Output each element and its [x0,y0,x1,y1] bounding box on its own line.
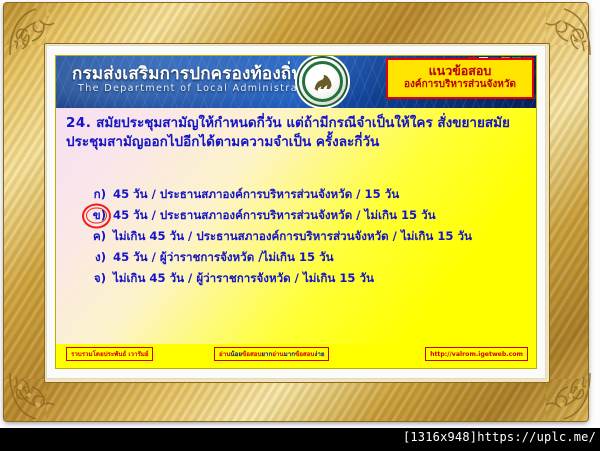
choice-text: 45 วัน / ประธานสภาองค์การบริหารส่วนจังหว… [113,209,436,223]
exam-banner-line2: องค์การบริหารส่วนจังหวัด [392,79,528,92]
department-emblem-icon [299,58,346,105]
slogan-part-3: ข้อสอบ [242,349,261,359]
slogan-part-4: ยาก [261,349,272,359]
slide-body: 24. สมัยประชุมสามัญให้กำหนดกี่วัน แต่ถ้า… [56,108,536,368]
choice-text: 45 วัน / ประธานสภาองค์การบริหารส่วนจังหว… [113,188,399,202]
answer-choice-kho-khwai[interactable]: ค) ไม่เกิน 45 วัน / ประธานสภาองค์การบริห… [72,226,528,247]
footer-url-link[interactable]: http://valrom.igetweb.com [430,351,523,358]
exam-slide: กรมส่งเสริมการปกครองท้องถิ่น The Departm… [56,56,536,368]
question-number: 24. [66,115,91,131]
slide-footer: รวบรวมโดยประพันธ์ เวารัมย์ อ่านน้อยข้อสอ… [56,344,536,368]
question-body: สมัยประชุมสามัญให้กำหนดกี่วัน แต่ถ้ามีกร… [66,115,510,150]
exam-banner-line1: แนวข้อสอบ [392,64,528,78]
slogan-part-8: ง่าย [314,349,324,359]
answer-choice-kho[interactable]: ข) 45 วัน / ประธานสภาองค์การบริหารส่วนจั… [72,205,528,226]
choice-text: 45 วัน / ผู้ว่าราชการจังหวัด /ไม่เกิน 15… [113,251,334,265]
footer-url-box[interactable]: http://valrom.igetweb.com [425,347,528,361]
department-title-english: The Department of Local Administration [78,83,322,94]
watermark-bar: [1316x948]https://uplc.me/ [0,428,600,451]
answer-choices-list: ก) 45 วัน / ประธานสภาองค์การบริหารส่วนจั… [72,184,528,289]
choice-text: ไม่เกิน 45 วัน / ประธานสภาองค์การบริหารส… [113,230,472,244]
answer-choice-ka[interactable]: ก) 45 วัน / ประธานสภาองค์การบริหารส่วนจั… [72,184,528,205]
question-text: 24. สมัยประชุมสามัญให้กำหนดกี่วัน แต่ถ้า… [66,114,528,152]
slide-stage: กรมส่งเสริมการปกครองท้องถิ่น The Departm… [0,0,600,451]
choice-label: จ) [86,272,106,286]
answer-choice-ngo[interactable]: ง) 45 วัน / ผู้ว่าราชการจังหวัด /ไม่เกิน… [72,247,528,268]
choice-label: ง) [86,251,106,265]
slogan-part-1: อ่าน [219,349,230,359]
choice-text: ไม่เกิน 45 วัน / ผู้ว่าราชการจังหวัด / ไ… [113,272,374,286]
slogan-part-6: มาก [284,349,295,359]
answer-choice-cho[interactable]: จ) ไม่เกิน 45 วัน / ผู้ว่าราชการจังหวัด … [72,268,528,289]
watermark-text: [1316x948]https://uplc.me/ [403,430,596,444]
slogan-part-2: น้อย [230,349,242,359]
choice-label: ข) [86,209,106,223]
exam-type-banner: แนวข้อสอบ องค์การบริหารส่วนจังหวัด [386,58,534,99]
footer-slogan-box: อ่านน้อยข้อสอบยาก อ่านมากข้อสอบง่าย [214,347,329,361]
emblem-horse-icon [311,72,334,92]
slogan-part-5: อ่าน [272,349,283,359]
footer-credit-box: รวบรวมโดยประพันธ์ เวารัมย์ [66,347,153,361]
choice-label: ก) [86,188,106,202]
choice-label: ค) [86,230,106,244]
slide-header: กรมส่งเสริมการปกครองท้องถิ่น The Departm… [56,56,536,108]
slogan-part-7: ข้อสอบ [295,349,314,359]
footer-credit-text: รวบรวมโดยประพันธ์ เวารัมย์ [71,349,148,359]
